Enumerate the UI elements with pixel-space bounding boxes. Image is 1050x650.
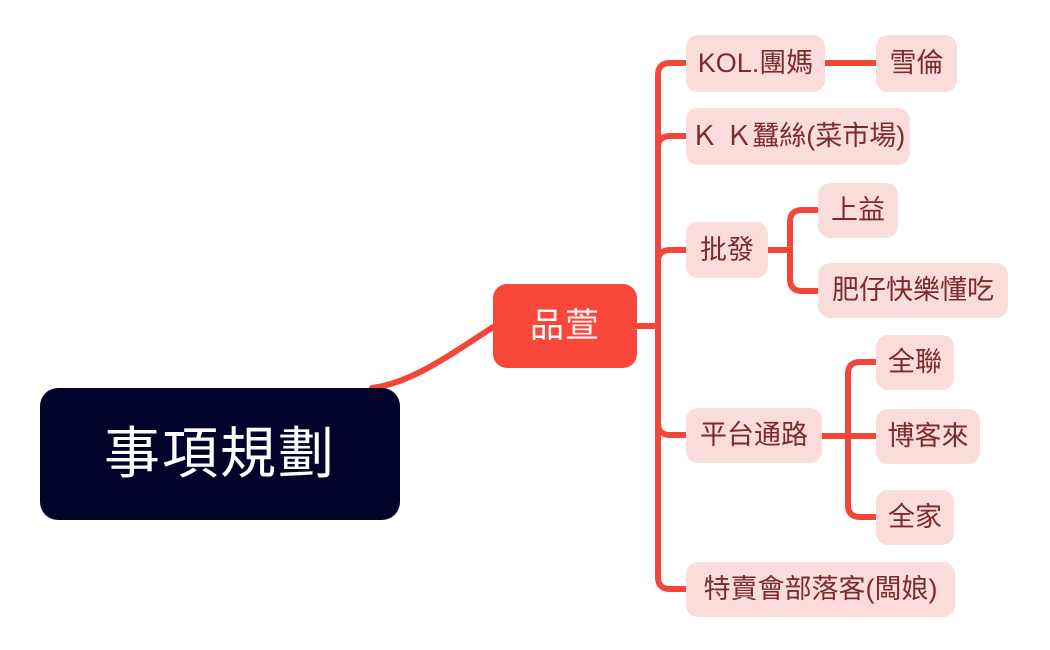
node-child-shangyi-label: 上益 <box>831 197 885 224</box>
edge-platform-to-pxmart <box>848 362 876 374</box>
node-branch-kol[interactable]: KOL.團媽 <box>686 35 825 92</box>
node-child-feizai[interactable]: 肥仔快樂懂吃 <box>818 263 1008 318</box>
node-child-xuelun-label: 雪倫 <box>890 50 944 77</box>
edge-wholesale-to-feizai <box>790 279 818 291</box>
edge-trunk-to-kk <box>658 136 686 148</box>
node-branch-kk-silk-label: Ｋ Ｋ蠶絲(菜市場) <box>691 123 905 150</box>
edge-trunk-to-wholesale <box>658 250 686 262</box>
node-primary-label: 品萱 <box>530 309 600 343</box>
node-child-shangyi[interactable]: 上益 <box>818 183 898 238</box>
edge-trunk-to-kol <box>658 63 686 75</box>
edge-root-to-primary <box>372 327 493 388</box>
node-child-books-label: 博客來 <box>888 423 969 450</box>
node-child-feizai-label: 肥仔快樂懂吃 <box>832 277 994 304</box>
node-branch-kol-label: KOL.團媽 <box>698 50 814 77</box>
edge-wholesale-to-shangyi <box>790 210 818 222</box>
node-branch-platform-label: 平台通路 <box>700 422 808 449</box>
edge-platform-to-familymart <box>848 505 876 517</box>
edge-trunk-to-platform <box>658 423 686 435</box>
node-branch-blogger[interactable]: 特賣會部落客(闆娘) <box>686 562 955 617</box>
node-child-pxmart[interactable]: 全聯 <box>876 335 954 390</box>
edge-trunk-to-blogger <box>658 577 686 589</box>
node-branch-wholesale-label: 批發 <box>700 237 754 264</box>
node-child-pxmart-label: 全聯 <box>888 349 942 376</box>
node-branch-platform[interactable]: 平台通路 <box>686 408 822 463</box>
node-root[interactable]: 事項規劃 <box>40 388 400 520</box>
node-child-xuelun[interactable]: 雪倫 <box>876 35 957 92</box>
node-branch-blogger-label: 特賣會部落客(闆娘) <box>704 576 938 603</box>
node-child-familymart-label: 全家 <box>888 504 942 531</box>
mindmap-canvas: 事項規劃 品萱 KOL.團媽 雪倫 Ｋ Ｋ蠶絲(菜市場) 批發 上益 肥仔快樂懂… <box>0 0 1050 650</box>
node-root-label: 事項規劃 <box>104 426 336 482</box>
node-child-familymart[interactable]: 全家 <box>876 490 954 545</box>
node-child-books[interactable]: 博客來 <box>876 409 980 464</box>
node-branch-wholesale[interactable]: 批發 <box>686 222 768 278</box>
node-primary[interactable]: 品萱 <box>493 284 637 368</box>
node-branch-kk-silk[interactable]: Ｋ Ｋ蠶絲(菜市場) <box>686 108 910 165</box>
